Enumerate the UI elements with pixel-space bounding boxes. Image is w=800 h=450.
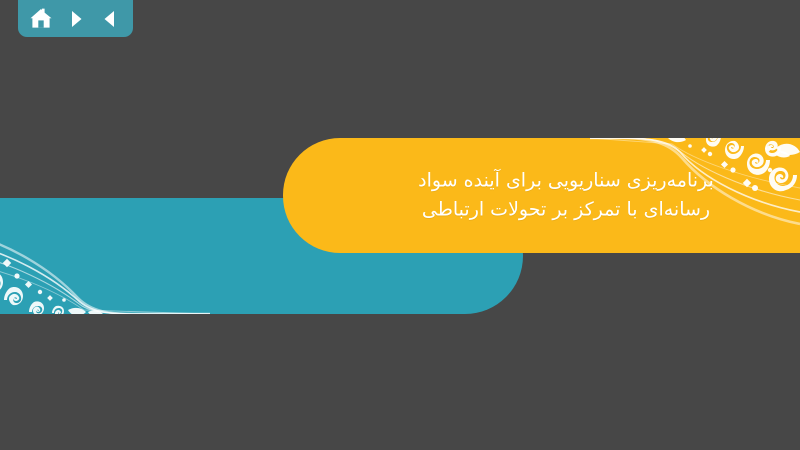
next-slide-button[interactable] (62, 5, 90, 33)
triangle-left-icon (100, 9, 120, 29)
orange-title-panel: برنامه‌ریزی سناریویی برای آینده سواد رسا… (283, 138, 800, 253)
page-title: برنامه‌ریزی سناریویی برای آینده سواد رسا… (356, 166, 776, 225)
home-icon (29, 8, 53, 30)
slide-stage: برنامه‌ریزی سناریویی برای آینده سواد رسا… (0, 0, 800, 450)
home-button[interactable] (27, 5, 55, 33)
title-line-2: رسانه‌ای با تمرکز بر تحولات ارتباطی (356, 196, 776, 225)
arabesque-ornament-teal (0, 198, 210, 314)
title-line-1: برنامه‌ریزی سناریویی برای آینده سواد (356, 166, 776, 195)
previous-slide-button[interactable] (96, 5, 124, 33)
navigation-toolbar (18, 0, 133, 37)
triangle-right-icon (66, 9, 86, 29)
